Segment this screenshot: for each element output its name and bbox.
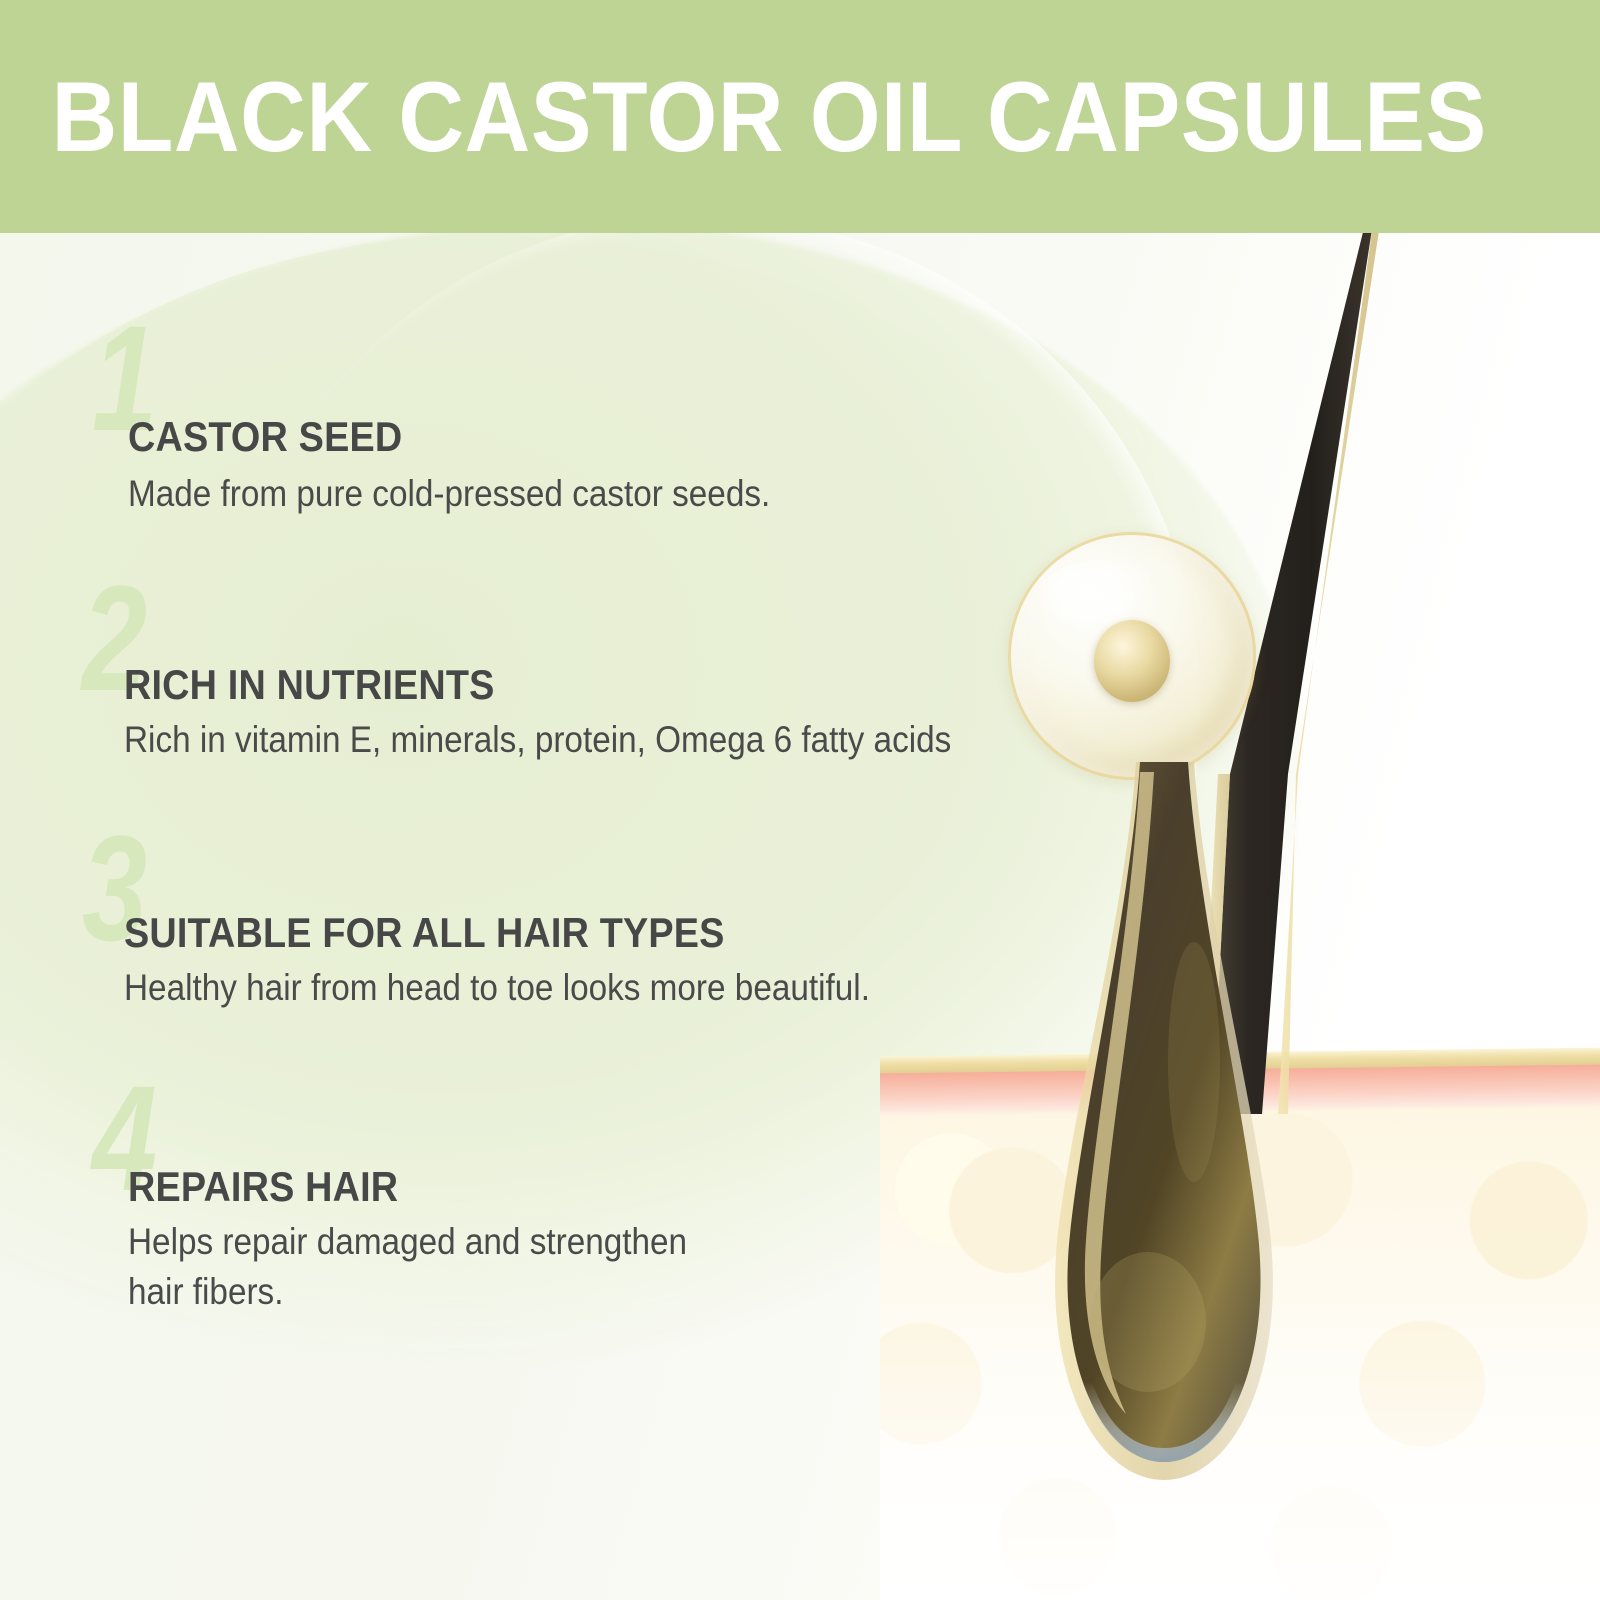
feature-body-4: Helps repair damaged and strengthen hair…: [128, 1217, 687, 1317]
feature-title-3: SUITABLE FOR ALL HAIR TYPES: [124, 911, 725, 955]
feature-title-4: REPAIRS HAIR: [128, 1165, 398, 1209]
page-title: BLACK CASTOR OIL CAPSULES: [0, 67, 1487, 166]
oil-bubble-highlight: [1040, 560, 1160, 630]
illustration-hair-follicle: [880, 222, 1600, 1600]
header-banner: BLACK CASTOR OIL CAPSULES: [0, 0, 1600, 233]
feature-title-1: CASTOR SEED: [128, 415, 402, 459]
feature-title-2: RICH IN NUTRIENTS: [124, 663, 495, 707]
follicle-bulb: [998, 762, 1328, 1542]
feature-body-3: Healthy hair from head to toe looks more…: [124, 963, 870, 1013]
infographic-page: BLACK CASTOR OIL CAPSULES 1 CASTOR SEED …: [0, 0, 1600, 1600]
feature-body-2: Rich in vitamin E, minerals, protein, Om…: [124, 715, 951, 765]
oil-bubble-core: [1094, 620, 1170, 702]
feature-body-1: Made from pure cold-pressed castor seeds…: [128, 469, 770, 519]
